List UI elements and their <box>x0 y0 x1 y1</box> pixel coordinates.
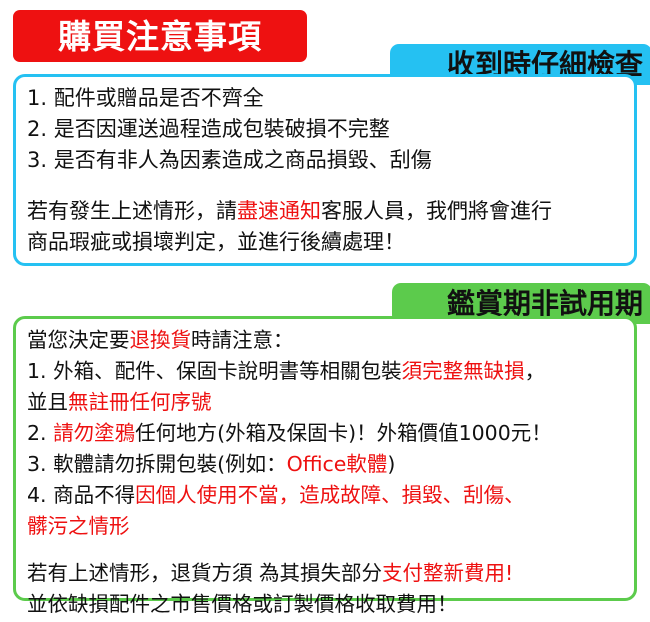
paragraph-spacer <box>27 176 634 196</box>
checklist-item: 2. 是否因運送過程造成包裝破損不完整 <box>27 114 634 145</box>
return-item-line: 4. 商品不得因個人使用不當，造成故障、損毀、刮傷、 <box>27 480 634 511</box>
return-intro-line: 當您決定要退換貨時請注意： <box>27 325 634 356</box>
notice-paragraph-line-2: 商品瑕疵或損壞判定，並進行後續處理！ <box>27 227 634 258</box>
section-tab-label: 鑑賞期非試用期 <box>447 290 643 318</box>
closing-spacer <box>27 542 634 558</box>
item-text-pre: 1. 外箱、配件、保固卡說明書等相關包裝 <box>27 359 402 383</box>
paragraph-text-post: 客服人員，我們將會進行 <box>321 199 552 223</box>
item-emphasis: 請勿塗鴉 <box>53 421 135 445</box>
item-emphasis: 無註冊任何序號 <box>68 390 212 414</box>
return-item-line-continued: 髒污之情形 <box>27 511 634 542</box>
item-emphasis: Office軟體 <box>287 452 388 476</box>
item-text-pre: 並且 <box>27 390 68 414</box>
intro-text-post: 時請注意： <box>191 328 294 352</box>
item-text-pre: 4. 商品不得 <box>27 483 135 507</box>
page-title-banner: 購買注意事項 <box>13 10 307 62</box>
checklist-item: 1. 配件或贈品是否不齊全 <box>27 83 634 114</box>
item-emphasis: 因個人使用不當，造成故障、損毀、刮傷、 <box>135 483 525 507</box>
cooling-off-period-panel: 當您決定要退換貨時請注意： 1. 外箱、配件、保固卡說明書等相關包裝須完整無缺損… <box>13 316 637 601</box>
item-emphasis: 髒污之情形 <box>27 514 130 538</box>
paragraph-emphasis: 盡速通知 <box>237 199 321 223</box>
checklist-item: 3. 是否有非人為因素造成之商品損毀、刮傷 <box>27 145 634 176</box>
cooling-off-period-body: 當您決定要退換貨時請注意： 1. 外箱、配件、保固卡說明書等相關包裝須完整無缺損… <box>16 319 634 620</box>
purchase-notice-page: { "title_banner": { "text": "購買注意事項", "b… <box>0 0 650 622</box>
closing-emphasis: 支付整新費用! <box>382 561 513 585</box>
return-item-line: 2. 請勿塗鴉任何地方(外箱及保固卡)！外箱價值1000元！ <box>27 418 634 449</box>
closing-line-1: 若有上述情形，退貨方須 為其損失部分支付整新費用! <box>27 558 634 589</box>
item-emphasis: 須完整無缺損 <box>402 359 525 383</box>
page-title: 購買注意事項 <box>58 20 262 53</box>
notice-paragraph-line-1: 若有發生上述情形，請盡速通知客服人員，我們將會進行 <box>27 196 634 227</box>
return-item-line: 1. 外箱、配件、保固卡說明書等相關包裝須完整無缺損， <box>27 356 634 387</box>
item-text-post: ) <box>387 452 395 476</box>
item-text-pre: 3. 軟體請勿拆開包裝(例如： <box>27 452 287 476</box>
item-text-post: 任何地方(外箱及保固卡)！外箱價值1000元！ <box>135 421 552 445</box>
intro-emphasis: 退換貨 <box>130 328 192 352</box>
inspect-on-arrival-panel: 1. 配件或贈品是否不齊全 2. 是否因運送過程造成包裝破損不完整 3. 是否有… <box>13 74 637 266</box>
inspect-on-arrival-body: 1. 配件或贈品是否不齊全 2. 是否因運送過程造成包裝破損不完整 3. 是否有… <box>16 77 634 258</box>
closing-text-pre: 若有上述情形，退貨方須 為其損失部分 <box>27 561 382 585</box>
return-item-line-continued: 並且無註冊任何序號 <box>27 387 634 418</box>
paragraph-text-pre: 若有發生上述情形，請 <box>27 199 237 223</box>
closing-line-2: 並依缺損配件之市售價格或訂製價格收取費用！ <box>27 589 634 620</box>
return-item-line: 3. 軟體請勿拆開包裝(例如：Office軟體) <box>27 449 634 480</box>
intro-text-pre: 當您決定要 <box>27 328 130 352</box>
item-text-pre: 2. <box>27 421 53 445</box>
item-text-post: ， <box>525 359 546 383</box>
